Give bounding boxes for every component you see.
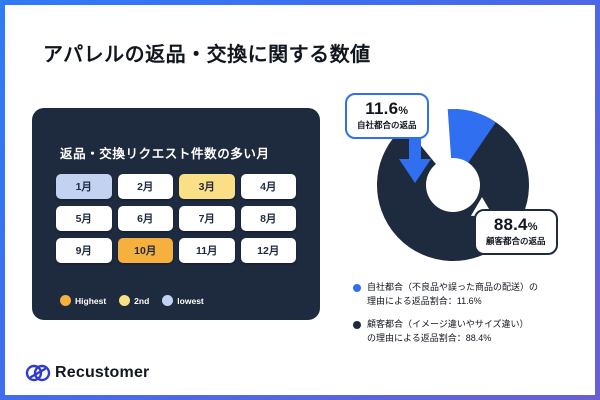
legend-dot-icon-lowest xyxy=(162,295,173,306)
callout-customer-return: 88.4% 顧客都合の返品 xyxy=(474,209,558,255)
legend-item-highest: Highest xyxy=(60,295,106,306)
month-cell-10[interactable]: 10月 xyxy=(118,238,174,263)
month-cell-5[interactable]: 5月 xyxy=(56,206,112,231)
page-title: アパレルの返品・交換に関する数値 xyxy=(43,38,371,67)
callout-company-percent: 11.6% xyxy=(357,100,417,118)
legend-dot-icon-second xyxy=(119,295,130,306)
list-item-customer: 顧客都合（イメージ違いやサイズ違い） の理由による返品割合：88.4% xyxy=(353,318,593,346)
month-grid: 1月 2月 3月 4月 5月 6月 7月 8月 9月 10月 11月 12月 xyxy=(56,174,296,263)
list-item-company: 自社都合（不良品や誤った商品の配送）の 理由による返品割合：11.6% xyxy=(353,281,593,309)
callout-customer-percent: 88.4% xyxy=(486,216,546,234)
month-cell-8[interactable]: 8月 xyxy=(241,206,297,231)
legend-label-lowest: lowest xyxy=(177,296,203,306)
recustomer-infinity-icon xyxy=(25,363,51,383)
return-reason-donut-chart: 11.6% 自社都合の返品 88.4% 顧客都合の返品 xyxy=(335,93,593,273)
bullet-dot-icon-company xyxy=(353,284,361,292)
month-cell-11[interactable]: 11月 xyxy=(179,238,235,263)
callout-company-return: 11.6% 自社都合の返品 xyxy=(345,93,429,139)
month-cell-2[interactable]: 2月 xyxy=(118,174,174,199)
callout-company-label: 自社都合の返品 xyxy=(357,119,417,131)
brand-logo: Recustomer xyxy=(25,363,149,383)
slide-frame: アパレルの返品・交換に関する数値 返品・交換リクエスト件数の多い月 1月 2月 … xyxy=(0,0,600,400)
month-cell-9[interactable]: 9月 xyxy=(56,238,112,263)
legend-dot-icon-highest xyxy=(60,295,71,306)
month-cell-3[interactable]: 3月 xyxy=(179,174,235,199)
month-cell-4[interactable]: 4月 xyxy=(241,174,297,199)
legend-item-lowest: lowest xyxy=(162,295,203,306)
month-cell-12[interactable]: 12月 xyxy=(241,238,297,263)
list-item-customer-text: 顧客都合（イメージ違いやサイズ違い） の理由による返品割合：88.4% xyxy=(367,318,529,346)
month-cell-6[interactable]: 6月 xyxy=(118,206,174,231)
top-return-months-panel: 返品・交換リクエスト件数の多い月 1月 2月 3月 4月 5月 6月 7月 8月… xyxy=(32,108,320,320)
legend-label-second: 2nd xyxy=(134,296,149,306)
legend-item-second: 2nd xyxy=(119,295,149,306)
month-cell-7[interactable]: 7月 xyxy=(179,206,235,231)
callout-customer-label: 顧客都合の返品 xyxy=(486,235,546,247)
slide-canvas: アパレルの返品・交換に関する数値 返品・交換リクエスト件数の多い月 1月 2月 … xyxy=(5,5,595,395)
list-item-company-text: 自社都合（不良品や誤った商品の配送）の 理由による返品割合：11.6% xyxy=(367,281,538,309)
rank-legend: Highest 2nd lowest xyxy=(60,295,204,306)
bullet-dot-icon-customer xyxy=(353,321,361,329)
legend-label-highest: Highest xyxy=(75,296,106,306)
reason-description-list: 自社都合（不良品や誤った商品の配送）の 理由による返品割合：11.6% 顧客都合… xyxy=(353,281,593,355)
month-cell-1[interactable]: 1月 xyxy=(56,174,112,199)
brand-logo-text: Recustomer xyxy=(55,364,149,382)
panel-heading: 返品・交換リクエスト件数の多い月 xyxy=(60,143,270,162)
